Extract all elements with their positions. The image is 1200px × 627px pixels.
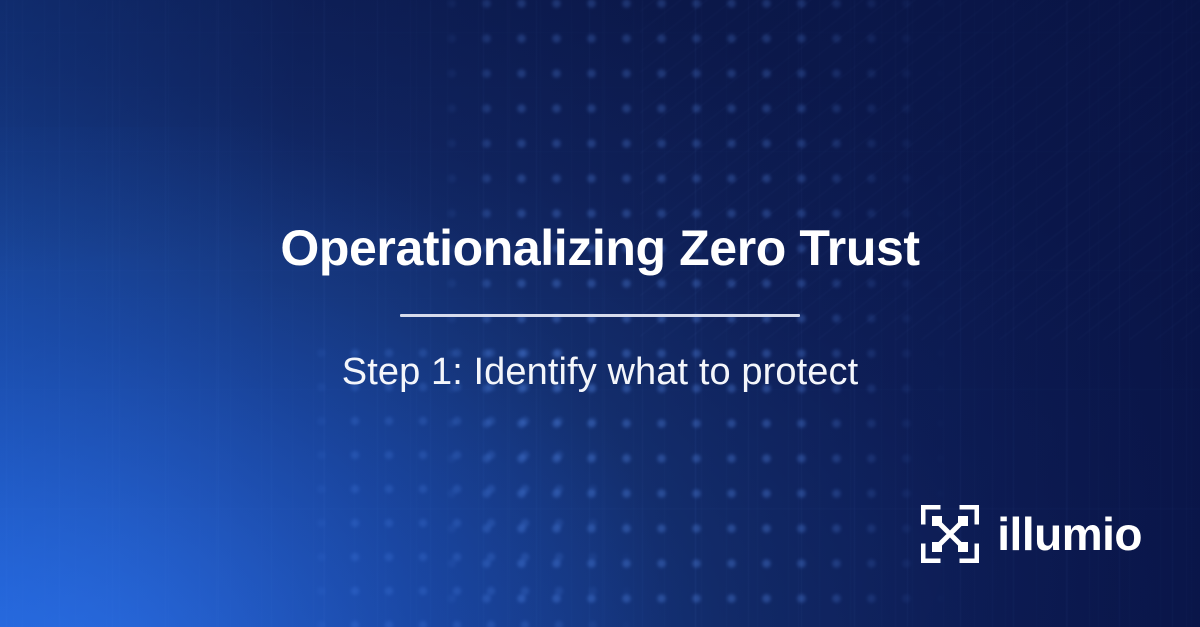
title-slide: Operationalizing Zero Trust Step 1: Iden… <box>0 0 1200 627</box>
slide-content: Operationalizing Zero Trust Step 1: Iden… <box>0 0 1200 627</box>
brand-logo: illumio <box>921 505 1142 563</box>
slide-title: Operationalizing Zero Trust <box>0 222 1200 275</box>
brand-wordmark: illumio <box>997 511 1142 557</box>
illumio-logo-mark-icon <box>921 505 979 563</box>
title-divider <box>400 314 800 317</box>
slide-subtitle: Step 1: Identify what to protect <box>0 350 1200 396</box>
